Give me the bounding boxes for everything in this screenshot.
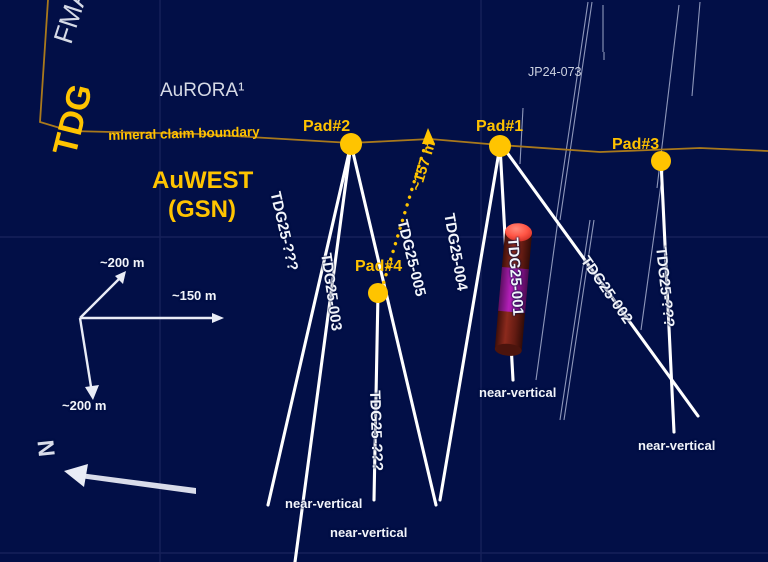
pad-marker-pad-4[interactable]: [368, 283, 388, 303]
drillhole-plan-map: FMAR AuRORA¹ TDG AuWEST (GSN) mineral cl…: [0, 0, 768, 562]
pad-marker-pad-3[interactable]: [651, 151, 671, 171]
pads-layer: [0, 0, 768, 562]
pad-marker-pad-1[interactable]: [489, 135, 511, 157]
pad-marker-pad-2[interactable]: [340, 133, 362, 155]
